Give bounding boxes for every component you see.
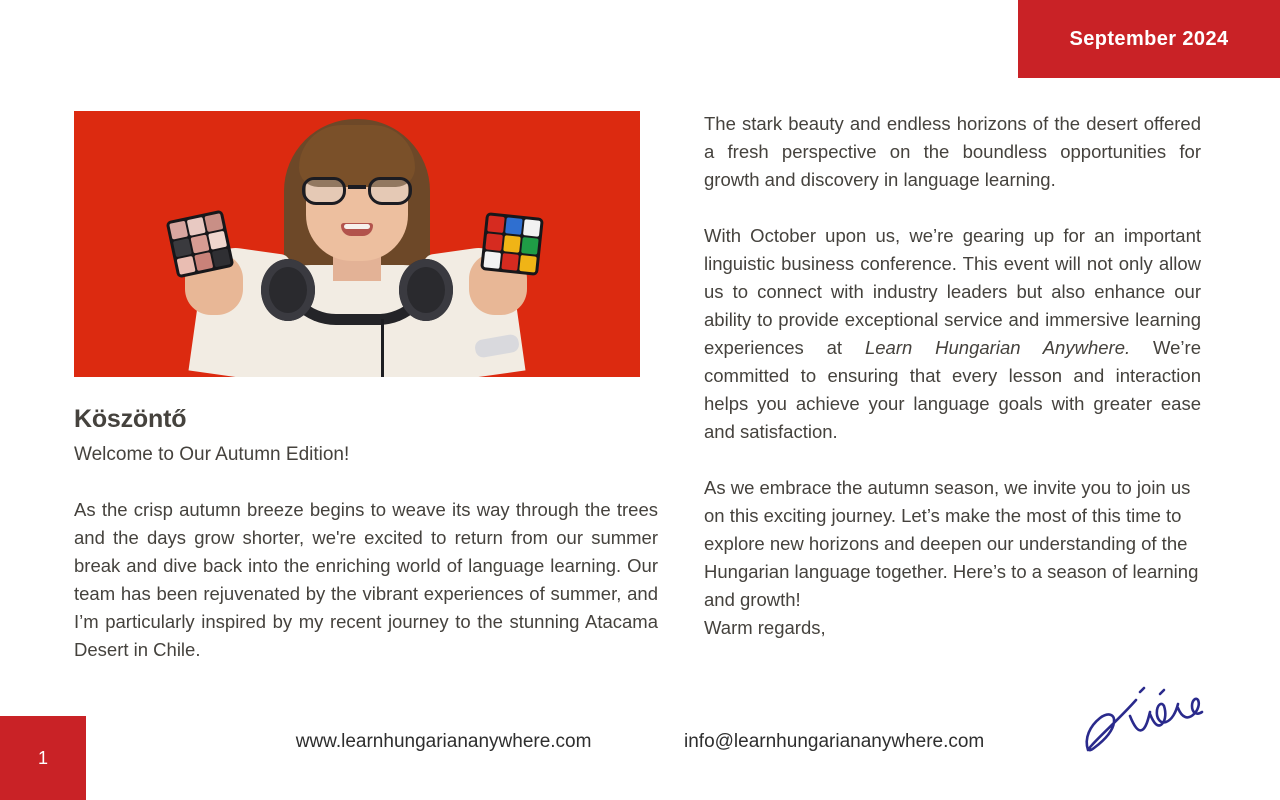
date-banner: September 2024 <box>1018 0 1280 78</box>
left-column: Köszöntő Welcome to Our Autumn Edition! … <box>74 111 658 664</box>
date-banner-label: September 2024 <box>1069 28 1228 51</box>
right-column: The stark beauty and endless horizons of… <box>704 110 1201 642</box>
rubiks-cube-right <box>480 212 544 276</box>
hero-photo <box>74 111 640 377</box>
rubiks-cube-left <box>166 210 235 279</box>
glasses-lens-right <box>368 177 412 205</box>
glasses-lens-left <box>302 177 346 205</box>
headphone-earcup-right <box>399 259 453 321</box>
page-subtitle: Welcome to Our Autumn Edition! <box>74 444 658 466</box>
brand-name: Learn Hungarian Anywhere. <box>865 337 1130 358</box>
footer-links: www.learnhungariananywhere.com info@lear… <box>0 731 1280 753</box>
person-illustration <box>207 115 507 377</box>
glasses-icon <box>301 177 413 207</box>
page-title: Köszöntő <box>74 405 658 434</box>
right-paragraph-3: As we embrace the autumn season, we invi… <box>704 474 1201 614</box>
email-link[interactable]: info@learnhungariananywhere.com <box>684 731 984 753</box>
glasses-bridge <box>348 185 366 189</box>
sign-off: Warm regards, <box>704 614 1201 642</box>
headphone-cable <box>381 319 384 377</box>
right-paragraph-2: With October upon us, we’re gearing up f… <box>704 222 1201 446</box>
left-body-paragraph: As the crisp autumn breeze begins to wea… <box>74 496 658 664</box>
website-link[interactable]: www.learnhungariananywhere.com <box>296 731 592 753</box>
headphone-earcup-left <box>261 259 315 321</box>
mouth <box>341 223 373 236</box>
right-paragraph-1: The stark beauty and endless horizons of… <box>704 110 1201 194</box>
page-number-badge: 1 <box>0 716 86 800</box>
